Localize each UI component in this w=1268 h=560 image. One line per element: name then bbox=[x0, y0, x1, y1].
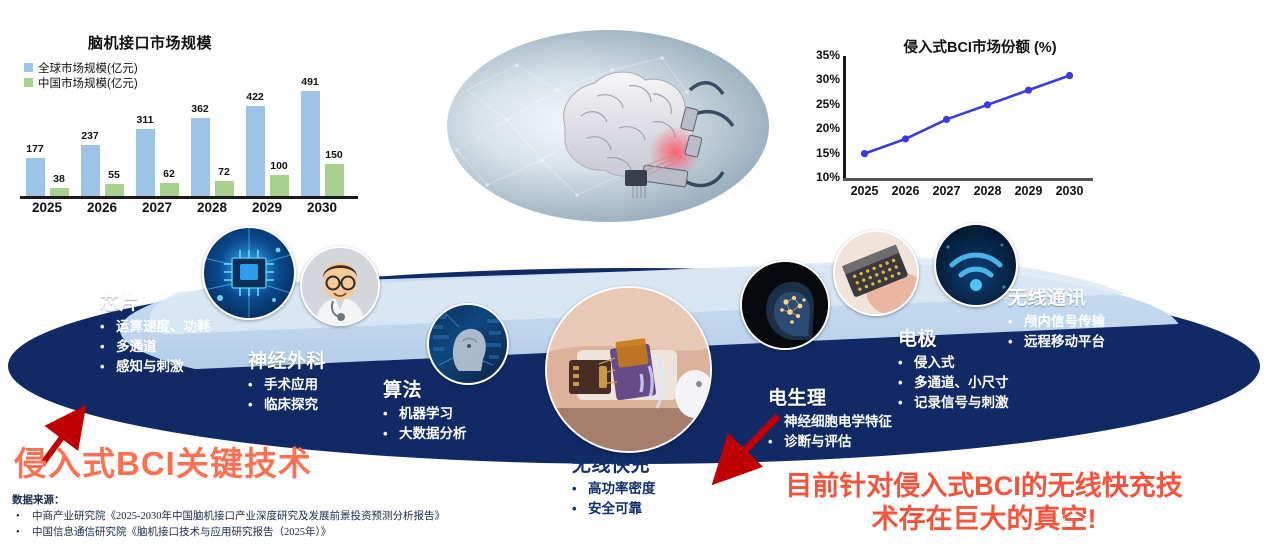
bar-value-global: 362 bbox=[187, 103, 213, 115]
block-electrophysiology-item-0: • 神经细胞电学特征 bbox=[768, 410, 892, 430]
block-electrophysiology-item-1-label: 诊断与评估 bbox=[784, 430, 852, 450]
headline-key-technologies: 侵入式BCI关键技术 bbox=[14, 437, 312, 485]
bar-group: 23755 bbox=[79, 76, 129, 196]
bullet-icon: • bbox=[383, 426, 399, 441]
block-electrophysiology-title: 电生理 bbox=[768, 383, 892, 410]
line-data-point bbox=[1066, 72, 1073, 79]
headline-vacuum-line2: 术存在巨大的真空! bbox=[724, 503, 1244, 536]
brain-ellipse-background bbox=[447, 30, 769, 222]
bar-value-global: 491 bbox=[297, 76, 323, 88]
bullet-icon: • bbox=[768, 434, 784, 449]
footnote-item-0-label: 中商产业研究院《2025-2030年中国脑机接口产业深度研究及发展前景投资预测分… bbox=[32, 509, 445, 525]
block-electrode-item-0-label: 侵入式 bbox=[914, 351, 955, 371]
electrode-array-photo bbox=[833, 230, 919, 316]
block-electrode-title: 电极 bbox=[898, 324, 1009, 351]
bar-x-label: 2025 bbox=[22, 200, 72, 215]
bullet-icon: • bbox=[768, 414, 784, 429]
line-chart-title: 侵入式BCI市场份额 (%) bbox=[830, 36, 1130, 57]
line-y-tick: 20% bbox=[800, 121, 840, 135]
line-data-point bbox=[943, 116, 950, 123]
block-chip-item-1-label: 多通道 bbox=[116, 335, 157, 355]
bar-chart-plot-area: 17738237553116236272422100491150 bbox=[22, 76, 354, 196]
wifi-icon bbox=[936, 225, 1016, 305]
wifi-signal-photo bbox=[934, 223, 1018, 307]
ai-head-icon bbox=[429, 305, 507, 383]
block-neurosurgery-item-1-label: 临床探究 bbox=[264, 393, 318, 413]
legend-swatch-global bbox=[24, 63, 33, 72]
block-wireless-comm: 无线通讯 • 颅内信号传输 • 远程移动平台 bbox=[1008, 283, 1105, 350]
line-x-tick: 2030 bbox=[1047, 184, 1093, 198]
footnote-item-1: • 中国信息通信研究院《脑机接口技术与应用研究报告（2025年）》 bbox=[12, 525, 612, 541]
line-data-point bbox=[984, 101, 991, 108]
block-neurosurgery-item-0: • 手术应用 bbox=[248, 373, 326, 393]
block-algorithm-item-0-label: 机器学习 bbox=[399, 402, 453, 422]
doctor-avatar-icon bbox=[302, 248, 378, 324]
block-electrode-item-2-label: 记录信号与刺激 bbox=[914, 391, 1009, 411]
bar-value-china: 38 bbox=[46, 173, 72, 185]
block-wireless-comm-item-0-label: 颅内信号传输 bbox=[1024, 310, 1105, 330]
bar-group: 31162 bbox=[134, 76, 184, 196]
chip-icon bbox=[204, 228, 294, 318]
block-wireless-comm-item-1: • 远程移动平台 bbox=[1008, 330, 1105, 350]
line-x-tick: 2027 bbox=[924, 184, 970, 198]
bullet-icon: • bbox=[1008, 314, 1024, 329]
bar-value-global: 311 bbox=[132, 114, 158, 126]
bar-china bbox=[215, 181, 234, 196]
wireless-charging-device-photo bbox=[545, 286, 712, 453]
line-y-tick: 25% bbox=[800, 97, 840, 111]
line-chart-x-axis bbox=[843, 178, 1093, 181]
bullet-icon: • bbox=[248, 377, 264, 392]
bullet-icon: • bbox=[100, 359, 116, 374]
footnote-item-0: • 中商产业研究院《2025-2030年中国脑机接口产业深度研究及发展前景投资预… bbox=[12, 509, 612, 525]
footnote-item-1-label: 中国信息通信研究院《脑机接口技术与应用研究报告（2025年）》 bbox=[32, 525, 331, 541]
legend-label-global: 全球市场规模(亿元) bbox=[38, 60, 138, 76]
block-algorithm-item-1-label: 大数据分析 bbox=[399, 422, 467, 442]
block-wireless-comm-item-1-label: 远程移动平台 bbox=[1024, 330, 1105, 350]
bar-china bbox=[105, 184, 124, 196]
bullet-icon: • bbox=[12, 525, 32, 541]
bar-global bbox=[136, 129, 155, 196]
bar-chart-title: 脑机接口市场规模 bbox=[0, 32, 300, 53]
block-algorithm: 算法 • 机器学习 • 大数据分析 bbox=[383, 375, 467, 442]
line-data-point bbox=[902, 135, 909, 142]
line-y-tick: 35% bbox=[800, 48, 840, 62]
block-neurosurgery: 神经外科 • 手术应用 • 临床探究 bbox=[248, 346, 326, 413]
bullet-icon: • bbox=[898, 395, 914, 410]
block-wireless-comm-item-0: • 颅内信号传输 bbox=[1008, 310, 1105, 330]
bar-global bbox=[81, 145, 100, 196]
headline-vacuum-line1: 目前针对侵入式BCI的无线快充技 bbox=[724, 470, 1244, 503]
bullet-icon: • bbox=[898, 355, 914, 370]
block-chip-item-0-label: 运算速度、功耗 bbox=[116, 315, 211, 335]
bar-chart-market-size: 脑机接口市场规模 全球市场规模(亿元) 中国市场规模(亿元) 177382375… bbox=[0, 28, 360, 218]
line-y-tick: 15% bbox=[800, 146, 840, 160]
bar-x-label: 2028 bbox=[187, 200, 237, 215]
bullet-icon: • bbox=[383, 406, 399, 421]
bar-value-global: 177 bbox=[22, 143, 48, 155]
block-electrode-item-0: • 侵入式 bbox=[898, 351, 1009, 371]
line-x-tick: 2026 bbox=[883, 184, 929, 198]
block-chip-item-0: • 运算速度、功耗 bbox=[100, 315, 211, 335]
bar-value-global: 237 bbox=[77, 130, 103, 142]
block-wireless-charging-title: 无线快充 bbox=[572, 450, 656, 477]
line-chart-market-share: 侵入式BCI市场份额 (%) 35%30%25%20%15%10% 202520… bbox=[800, 30, 1130, 225]
bar-x-label: 2026 bbox=[77, 200, 127, 215]
line-data-point bbox=[861, 150, 868, 157]
bar-x-label: 2029 bbox=[242, 200, 292, 215]
electrode-array-icon bbox=[835, 232, 917, 314]
data-source-footnote: 数据来源： • 中商产业研究院《2025-2030年中国脑机接口产业深度研究及发… bbox=[12, 492, 612, 541]
bar-china bbox=[50, 188, 69, 196]
line-x-tick: 2028 bbox=[965, 184, 1011, 198]
doctor-avatar-photo bbox=[300, 246, 380, 326]
bar-value-china: 55 bbox=[101, 169, 127, 181]
bullet-icon: • bbox=[1008, 334, 1024, 349]
block-chip: 芯片 • 运算速度、功耗 • 多通道 • 感知与刺激 bbox=[100, 288, 211, 375]
block-chip-item-2-label: 感知与刺激 bbox=[116, 355, 184, 375]
bar-china bbox=[270, 175, 289, 196]
block-electrode-item-1-label: 多通道、小尺寸 bbox=[914, 371, 1009, 391]
bar-china bbox=[325, 164, 344, 196]
headline-vacuum-statement: 目前针对侵入式BCI的无线快充技 术存在巨大的真空! bbox=[724, 470, 1244, 536]
brain-illustration bbox=[447, 30, 769, 222]
block-electrode: 电极 • 侵入式 • 多通道、小尺寸 • 记录信号与刺激 bbox=[898, 324, 1009, 411]
block-electrophysiology-item-1: • 诊断与评估 bbox=[768, 430, 892, 450]
bar-group: 36272 bbox=[189, 76, 239, 196]
bar-x-label: 2030 bbox=[297, 200, 347, 215]
bullet-icon: • bbox=[248, 397, 264, 412]
legend-item-global: 全球市场规模(亿元) bbox=[24, 60, 138, 75]
block-chip-item-2: • 感知与刺激 bbox=[100, 355, 211, 375]
bullet-icon: • bbox=[100, 339, 116, 354]
block-algorithm-item-0: • 机器学习 bbox=[383, 402, 467, 422]
bar-global bbox=[246, 106, 265, 196]
line-data-point bbox=[1025, 87, 1032, 94]
block-chip-title: 芯片 bbox=[100, 288, 211, 315]
bar-value-china: 62 bbox=[156, 168, 182, 180]
block-electrode-item-2: • 记录信号与刺激 bbox=[898, 391, 1009, 411]
line-y-tick: 10% bbox=[800, 170, 840, 184]
bar-group: 491150 bbox=[299, 76, 349, 196]
bar-global bbox=[301, 91, 320, 196]
brain-with-implant-icon bbox=[447, 30, 769, 222]
bullet-icon: • bbox=[100, 319, 116, 334]
block-algorithm-item-1: • 大数据分析 bbox=[383, 422, 467, 442]
block-chip-item-1: • 多通道 bbox=[100, 335, 211, 355]
line-y-tick: 30% bbox=[800, 72, 840, 86]
implant-device-icon bbox=[547, 288, 710, 451]
block-neurosurgery-item-1: • 临床探究 bbox=[248, 393, 326, 413]
bar-china bbox=[160, 183, 179, 196]
line-x-tick: 2025 bbox=[842, 184, 888, 198]
bar-value-china: 100 bbox=[266, 160, 292, 172]
ai-head-photo bbox=[427, 303, 509, 385]
line-x-tick: 2029 bbox=[1006, 184, 1052, 198]
block-electrophysiology: 电生理 • 神经细胞电学特征 • 诊断与评估 bbox=[768, 383, 892, 450]
brain-activity-photo bbox=[740, 260, 830, 350]
block-electrophysiology-item-0-label: 神经细胞电学特征 bbox=[784, 410, 892, 430]
bullet-icon: • bbox=[12, 509, 32, 525]
block-electrode-item-1: • 多通道、小尺寸 bbox=[898, 371, 1009, 391]
bar-chart-x-axis bbox=[20, 196, 358, 199]
line-chart-svg bbox=[844, 56, 1090, 178]
chip-photo bbox=[202, 226, 296, 320]
bullet-icon: • bbox=[898, 375, 914, 390]
line-chart-plot-area bbox=[844, 56, 1090, 178]
block-wireless-comm-title: 无线通讯 bbox=[1008, 283, 1105, 310]
bar-group: 17738 bbox=[24, 76, 74, 196]
footnote-title: 数据来源： bbox=[12, 492, 612, 507]
brain-activity-icon bbox=[742, 262, 828, 348]
bar-x-label: 2027 bbox=[132, 200, 182, 215]
bar-global bbox=[26, 158, 45, 196]
bar-value-global: 422 bbox=[242, 91, 268, 103]
bar-value-china: 72 bbox=[211, 166, 237, 178]
block-neurosurgery-item-0-label: 手术应用 bbox=[264, 373, 318, 393]
block-neurosurgery-title: 神经外科 bbox=[248, 346, 326, 373]
block-algorithm-title: 算法 bbox=[383, 375, 467, 402]
bar-value-china: 150 bbox=[321, 149, 347, 161]
bar-global bbox=[191, 118, 210, 196]
bar-group: 422100 bbox=[244, 76, 294, 196]
